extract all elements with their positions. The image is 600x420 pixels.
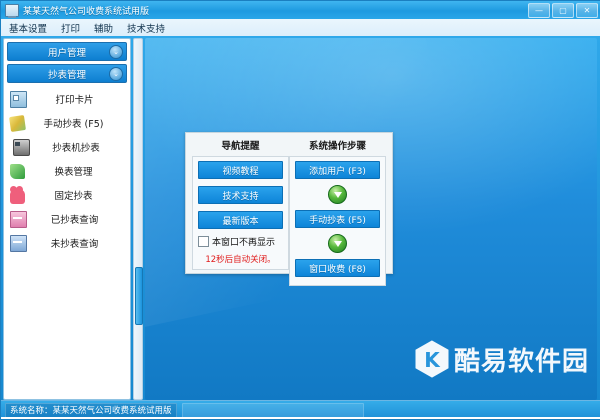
sidebar-group-label: 用户管理 bbox=[48, 45, 86, 59]
auto-close-timer-text: 12秒后自动关闭。 bbox=[205, 253, 275, 265]
sidebar: 用户管理 ⌄ 抄表管理 ⌄ 打印卡片 手动抄表 (F5) 抄表机抄表 bbox=[3, 38, 131, 400]
sidebar-item-label: 固定抄表 bbox=[27, 188, 130, 202]
title-bar: 某某天然气公司收费系统试用版 — ▢ ✕ bbox=[1, 1, 600, 20]
sidebar-group-user-management[interactable]: 用户管理 ⌄ bbox=[7, 42, 127, 61]
pink-list-icon bbox=[10, 211, 27, 228]
swap-icon bbox=[10, 164, 25, 179]
sidebar-item-label: 抄表机抄表 bbox=[32, 140, 130, 154]
sidebar-item-manual-reading[interactable]: 手动抄表 (F5) bbox=[4, 111, 130, 135]
monitor-icon bbox=[5, 4, 19, 17]
menu-bar: 基本设置 打印 辅助 技术支持 bbox=[1, 19, 600, 37]
guide-left-column: 导航提醒 视频教程 技术支持 最新版本 本窗口不再显示 12秒后自动关闭。 bbox=[192, 138, 289, 268]
menu-item-auxiliary[interactable]: 辅助 bbox=[88, 20, 119, 36]
guide-dialog: 导航提醒 视频教程 技术支持 最新版本 本窗口不再显示 12秒后自动关闭。 系统… bbox=[185, 132, 393, 274]
svg-text:K: K bbox=[424, 348, 441, 372]
dont-show-again-label: 本窗口不再显示 bbox=[212, 235, 275, 248]
sidebar-item-label: 未抄表查询 bbox=[29, 236, 130, 250]
sidebar-item-label: 换表管理 bbox=[27, 164, 130, 178]
guide-right-box: 添加用户 (F3) 手动抄表 (F5) 窗口收费 (F8) bbox=[289, 156, 386, 286]
window-controls: — ▢ ✕ bbox=[528, 3, 598, 18]
sidebar-item-print-card[interactable]: 打印卡片 bbox=[4, 87, 130, 111]
sidebar-scrollbar[interactable] bbox=[133, 38, 143, 400]
manual-reading-button[interactable]: 手动抄表 (F5) bbox=[295, 210, 380, 228]
dont-show-again-row[interactable]: 本窗口不再显示 bbox=[198, 235, 283, 248]
window-bottom-edge bbox=[1, 417, 600, 419]
heart-icon bbox=[10, 189, 25, 204]
card-icon bbox=[10, 91, 27, 108]
sidebar-item-read-query[interactable]: 已抄表查询 bbox=[4, 207, 130, 231]
sidebar-item-label: 打印卡片 bbox=[29, 92, 130, 106]
sidebar-item-label: 已抄表查询 bbox=[29, 212, 130, 226]
latest-version-button[interactable]: 最新版本 bbox=[198, 211, 283, 229]
blue-list-icon bbox=[10, 235, 27, 252]
pencil-icon bbox=[9, 115, 26, 132]
sidebar-item-unread-query[interactable]: 未抄表查询 bbox=[4, 231, 130, 255]
sidebar-item-label: 手动抄表 (F5) bbox=[27, 116, 130, 130]
sidebar-item-list: 打印卡片 手动抄表 (F5) 抄表机抄表 换表管理 固定抄表 bbox=[4, 87, 130, 255]
watermark: K 酷易软件园 bbox=[415, 340, 589, 378]
menu-item-basic-settings[interactable]: 基本设置 bbox=[3, 20, 53, 36]
guide-right-title: 系统操作步骤 bbox=[309, 138, 366, 152]
status-filler bbox=[182, 403, 364, 418]
arrow-down-icon bbox=[328, 234, 347, 253]
close-button[interactable]: ✕ bbox=[576, 3, 598, 18]
guide-left-title: 导航提醒 bbox=[221, 138, 259, 152]
chevron-down-icon[interactable]: ⌄ bbox=[109, 67, 123, 81]
window-charging-button[interactable]: 窗口收费 (F8) bbox=[295, 259, 380, 277]
guide-right-column: 系统操作步骤 添加用户 (F3) 手动抄表 (F5) 窗口收费 (F8) bbox=[289, 138, 386, 268]
application-window: 某某天然气公司收费系统试用版 — ▢ ✕ 基本设置 打印 辅助 技术支持 用户管… bbox=[0, 0, 600, 420]
window-title: 某某天然气公司收费系统试用版 bbox=[23, 4, 149, 17]
k-hexagon-logo-icon: K bbox=[415, 340, 449, 378]
content-area: 用户管理 ⌄ 抄表管理 ⌄ 打印卡片 手动抄表 (F5) 抄表机抄表 bbox=[1, 36, 600, 403]
maximize-button[interactable]: ▢ bbox=[552, 3, 574, 18]
sidebar-item-device-reading[interactable]: 抄表机抄表 bbox=[4, 135, 130, 159]
scrollbar-thumb[interactable] bbox=[135, 267, 143, 325]
minimize-button[interactable]: — bbox=[528, 3, 550, 18]
menu-item-print[interactable]: 打印 bbox=[55, 20, 86, 36]
sidebar-group-label: 抄表管理 bbox=[48, 67, 86, 81]
sidebar-item-meter-swap[interactable]: 换表管理 bbox=[4, 159, 130, 183]
menu-item-tech-support[interactable]: 技术支持 bbox=[121, 20, 171, 36]
add-user-button[interactable]: 添加用户 (F3) bbox=[295, 161, 380, 179]
video-tutorial-button[interactable]: 视频教程 bbox=[198, 161, 283, 179]
status-text: 系统名称：某某天然气公司收费系统试用版 bbox=[10, 404, 172, 416]
dont-show-again-checkbox[interactable] bbox=[198, 236, 209, 247]
watermark-text: 酷易软件园 bbox=[454, 341, 589, 378]
status-pane: 系统名称：某某天然气公司收费系统试用版 bbox=[5, 403, 177, 418]
main-work-area: 导航提醒 视频教程 技术支持 最新版本 本窗口不再显示 12秒后自动关闭。 系统… bbox=[145, 38, 597, 400]
tech-support-button[interactable]: 技术支持 bbox=[198, 186, 283, 204]
chevron-down-icon[interactable]: ⌄ bbox=[109, 45, 123, 59]
arrow-down-icon bbox=[328, 185, 347, 204]
guide-left-box: 视频教程 技术支持 最新版本 本窗口不再显示 12秒后自动关闭。 bbox=[192, 156, 289, 270]
handheld-device-icon bbox=[13, 139, 30, 156]
sidebar-item-fixed-reading[interactable]: 固定抄表 bbox=[4, 183, 130, 207]
sidebar-group-meter-management[interactable]: 抄表管理 ⌄ bbox=[7, 64, 127, 83]
